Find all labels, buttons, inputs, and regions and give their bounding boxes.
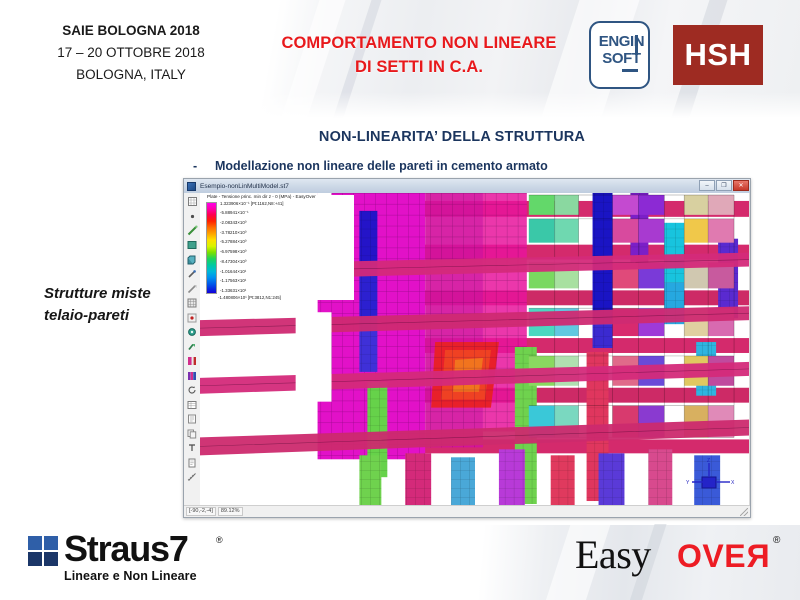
maximize-button[interactable]: ❐ [716,180,732,191]
straus7-logo-cell [44,536,58,550]
results-contour-icon[interactable] [186,355,199,368]
legend-values: 1.323906×10⁻¹ [Pt:1162,N8:+41] -5.88941×… [220,202,284,294]
event-info-block: SAIE BOLOGNA 2018 17 – 20 OTTOBRE 2018 B… [6,20,256,86]
table-icon[interactable] [186,398,199,411]
enginsoft-logo-line1: ENGIN [591,34,652,51]
status-coordinates: [-90,-2,-4] [186,507,216,516]
easyover-registered-mark: ® [773,535,780,546]
presentation-title: COMPORTAMENTO NON LINEARE DI SETTI IN C.… [258,31,580,79]
legend-value: -8.47304×10⁰ [220,260,284,264]
results-legend: Plate - Tensione princ. min dir z - 0 (M… [204,195,354,300]
legend-value: -1.17563×10¹ [220,279,284,283]
legend-value: -5.88941×10⁻¹ [220,211,284,215]
attribute-icon[interactable] [186,326,199,339]
copy-icon[interactable] [186,427,199,440]
line-icon[interactable] [186,224,199,237]
legend-colorbar [206,202,217,294]
link-icon[interactable] [186,268,199,281]
enginsoft-logo-bar-vertical [635,35,638,55]
legend-value: -2.08343×10⁰ [220,221,284,225]
section-title: NON-LINEARITA’ DELLA STRUTTURA [182,129,722,145]
enginsoft-logo: ENGIN SOFT [589,21,650,89]
window-title: Esempio-nonLinMultiModel.st7 [200,183,289,190]
straus7-logo-text: Straus7 [64,528,188,570]
event-location: BOLOGNA, ITALY [6,64,256,86]
presentation-title-line1: COMPORTAMENTO NON LINEARE [258,31,580,55]
legend-value: -6.97598×10⁰ [220,250,284,254]
text-icon[interactable] [186,442,199,455]
svg-text:X: X [731,480,735,486]
node-restraint-icon[interactable] [186,311,199,324]
rotate-icon[interactable] [186,384,199,397]
enginsoft-logo-text: ENGIN SOFT [591,34,652,67]
presentation-title-line2: DI SETTI IN C.A. [258,55,580,79]
legend-value: -1.01644×10¹ [220,270,284,274]
axis-triad-icon: Z Y X [684,457,736,495]
mesh-icon[interactable] [186,297,199,310]
results-vector-icon[interactable] [186,369,199,382]
straus7-logo-cell [28,552,42,566]
straus7-logo-mark [28,536,62,570]
legend-title: Plate - Tensione princ. min dir z - 0 (M… [204,195,354,200]
straus7-registered-mark: ® [216,535,223,545]
legend-value: -5.27884×10⁰ [220,240,284,244]
enginsoft-logo-line2: SOFT [591,51,652,68]
left-caption: Strutture miste telaio-pareti [44,283,184,327]
point-icon[interactable] [186,210,199,223]
legend-min-value: -1.480806×10¹ [Pt:3812,N1:245] [204,296,354,300]
legend-value: -1.33631×10¹ [220,289,284,293]
application-icon [187,182,196,191]
easyover-logo: Easy OVER ® [575,533,785,581]
plate-icon[interactable] [186,239,199,252]
grid-icon[interactable] [186,195,199,208]
resize-grip[interactable] [740,508,748,516]
brick-icon[interactable] [186,253,199,266]
event-dates: 17 – 20 OTTOBRE 2018 [6,42,256,64]
summary-icon[interactable] [186,456,199,469]
svg-text:Y: Y [686,480,690,486]
easyover-logo-easy: Easy [575,531,651,578]
bullet-item: -Modellazione non lineare delle pareti i… [193,159,753,173]
straus7-application-window[interactable]: Esempio-nonLinMultiModel.st7 – ❐ ✕ [183,178,751,518]
hsh-logo-text: HSH [673,35,763,75]
model-viewport[interactable]: Plate - Tensione princ. min dir z - 0 (M… [200,193,750,505]
svg-text:Z: Z [707,458,710,464]
minimize-button[interactable]: – [699,180,715,191]
close-button[interactable]: ✕ [733,180,749,191]
bullet-dash: - [193,159,215,173]
presentation-slide: SAIE BOLOGNA 2018 17 – 20 OTTOBRE 2018 B… [0,0,800,600]
load-icon[interactable] [186,340,199,353]
easyover-logo-over: OVER [677,538,770,575]
hsh-logo: HSH [673,25,763,85]
easyover-over-reversed-r: R [746,538,770,575]
property-icon[interactable] [186,413,199,426]
window-title-bar[interactable]: Esempio-nonLinMultiModel.st7 – ❐ ✕ [184,179,750,194]
straus7-tagline: Lineare e Non Lineare [64,569,197,583]
measure-icon[interactable] [186,471,199,484]
status-bar: [-90,-2,-4] 89.12% [184,505,750,517]
viewport-edge [749,193,750,505]
left-toolbar[interactable] [184,193,201,505]
beam-icon[interactable] [186,282,199,295]
straus7-logo-cell [28,536,42,550]
ground-columns [359,449,720,505]
easyover-over-text: OVE [677,538,746,574]
enginsoft-logo-bar-horizontal [622,69,638,72]
straus7-logo-cell [44,552,58,566]
legend-max-value: 1.323906×10⁻¹ [Pt:1162,N8:+41] [220,202,284,206]
footer-divider [0,524,800,525]
window-controls[interactable]: – ❐ ✕ [699,180,749,191]
straus7-logo: Straus7 ® Lineare e Non Lineare [28,531,258,585]
bullet-text: Modellazione non lineare delle pareti in… [215,159,548,173]
event-name: SAIE BOLOGNA 2018 [6,20,256,42]
legend-value: -3.78210×10⁰ [220,231,284,235]
header-fade [0,92,800,118]
status-zoom-level: 89.12% [218,507,243,516]
